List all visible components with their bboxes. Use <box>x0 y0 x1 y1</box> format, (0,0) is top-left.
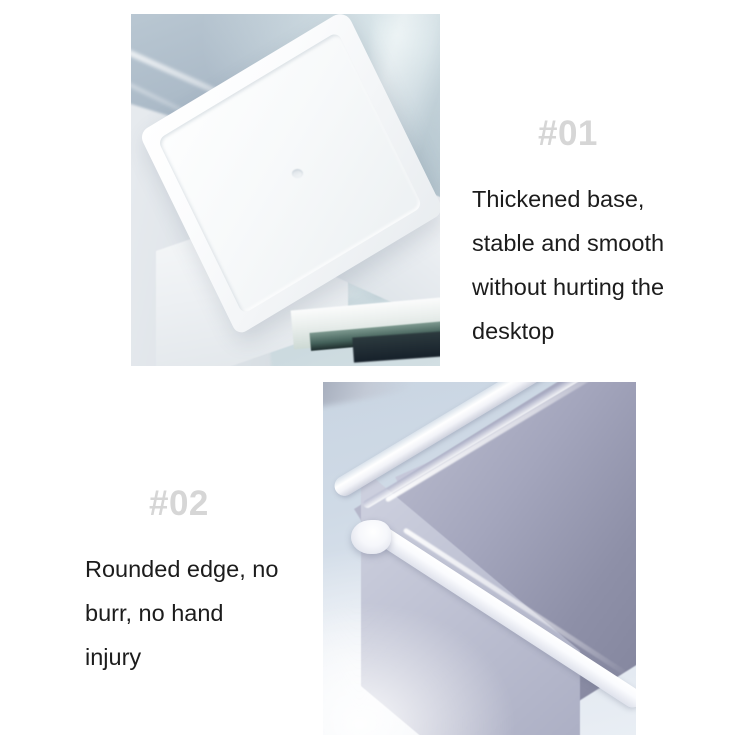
feature-one-text: #01 Thickened base, stable and smooth wi… <box>470 116 732 353</box>
feature-one-line-4: desktop <box>470 309 732 353</box>
ambient-light-wash <box>323 601 517 735</box>
moulding-sprue-dot <box>292 169 303 178</box>
feature-one-line-3: without hurting the <box>470 265 732 309</box>
thickened-base-photo <box>131 14 440 366</box>
feature-two-line-3: injury <box>83 635 323 679</box>
feature-one-line-2: stable and smooth <box>470 221 732 265</box>
feature-one-line-1: Thickened base, <box>470 177 732 221</box>
feature-one-badge: #01 <box>470 116 732 151</box>
feature-two-line-2: burr, no hand <box>83 591 323 635</box>
feature-two-line-1: Rounded edge, no <box>83 547 323 591</box>
rounded-edge-photo <box>323 382 636 735</box>
feature-two-badge: #02 <box>83 486 323 521</box>
rounded-corner-cap <box>351 520 391 554</box>
feature-two-text: #02 Rounded edge, no burr, no hand injur… <box>83 486 323 679</box>
infographic-canvas: #01 Thickened base, stable and smooth wi… <box>0 0 753 754</box>
